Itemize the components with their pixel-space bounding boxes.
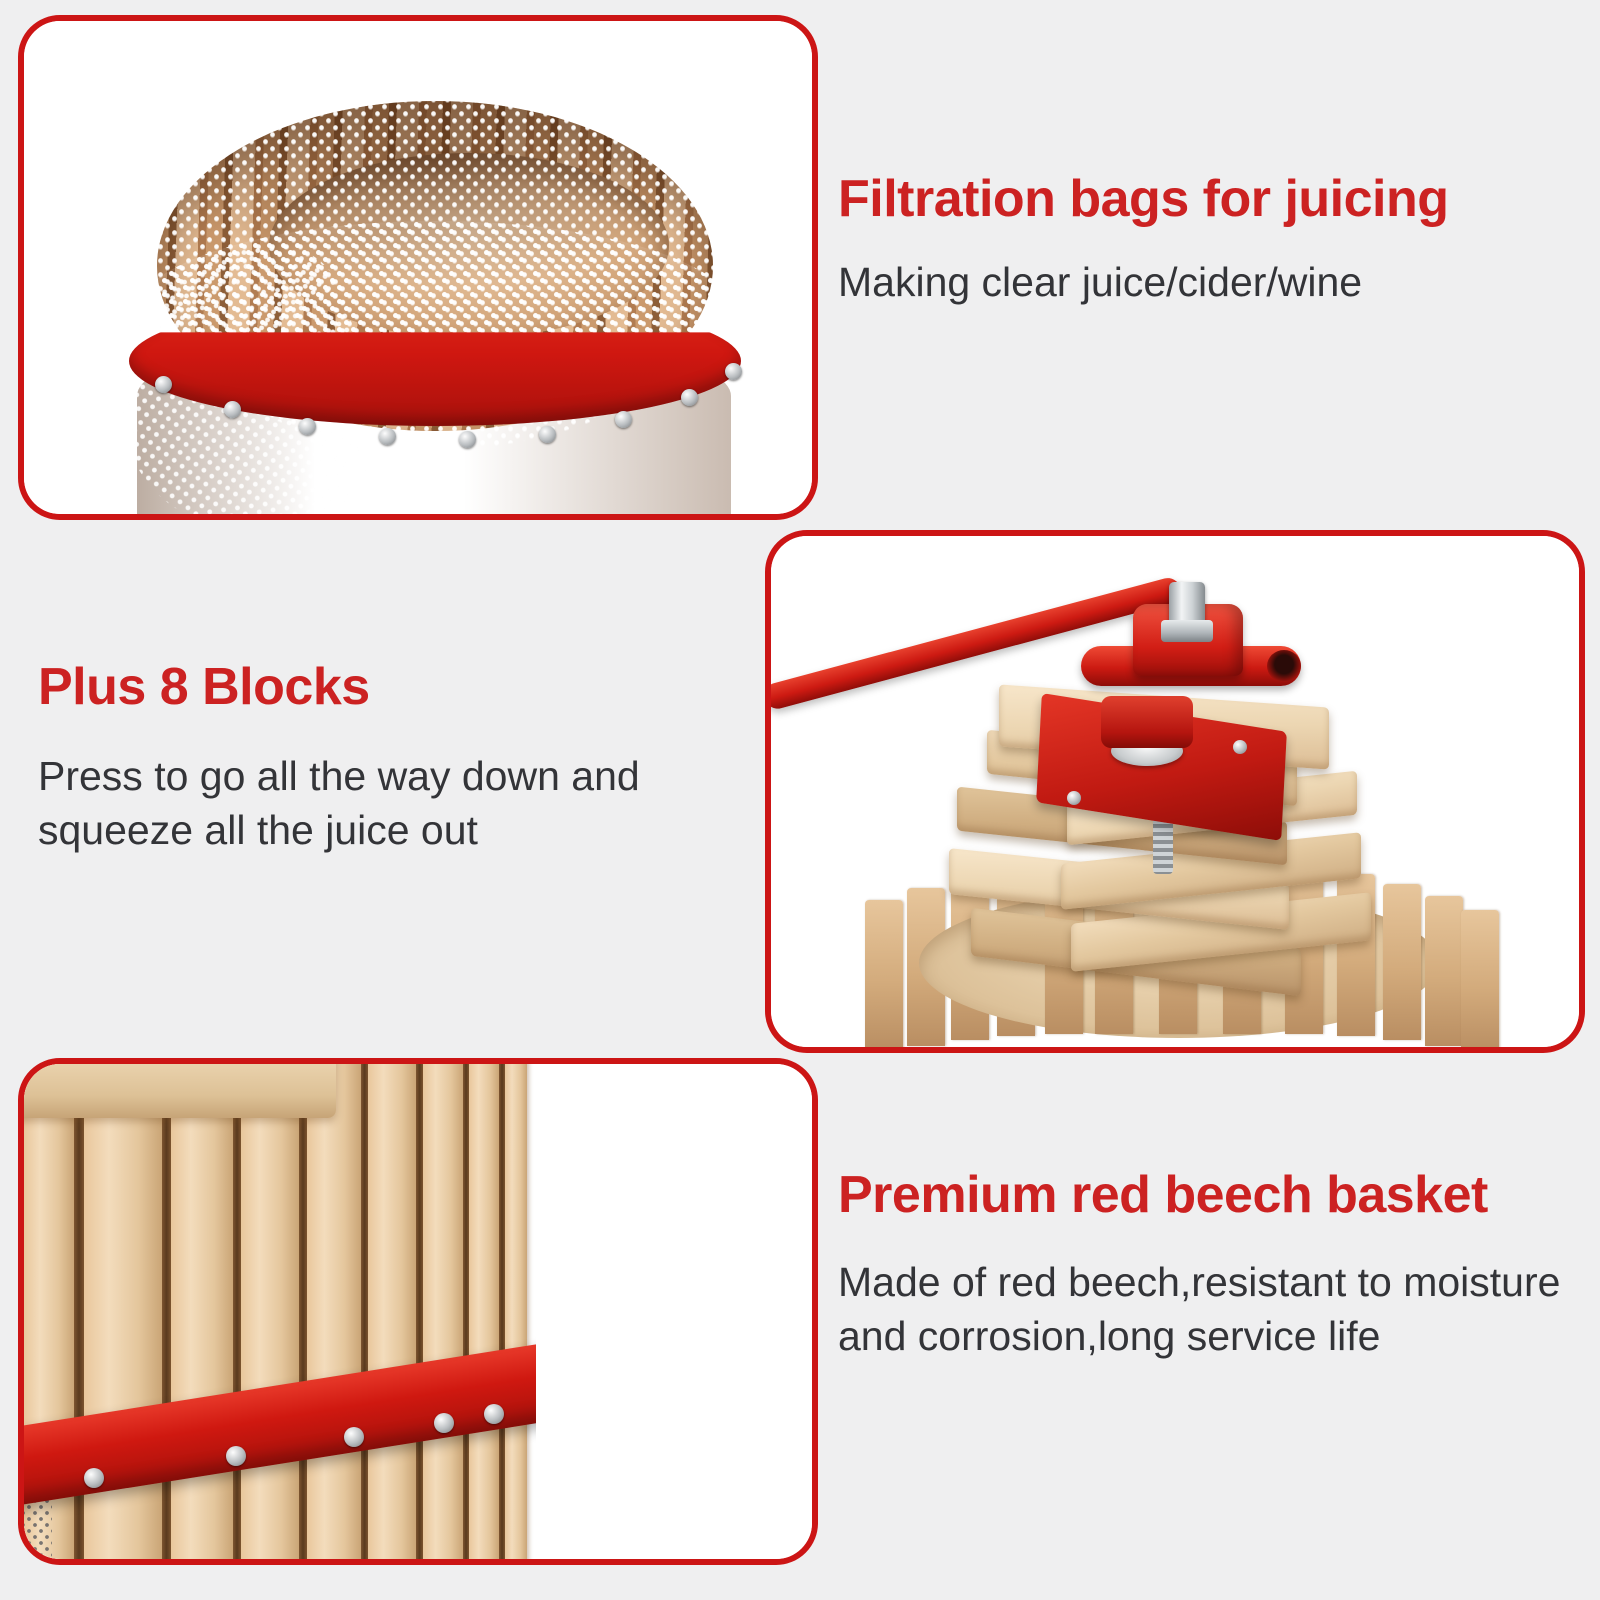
band-screw bbox=[434, 1413, 454, 1433]
feature-text-basket: Premium red beech basket Made of red bee… bbox=[838, 1168, 1568, 1363]
basket-stave bbox=[1383, 884, 1421, 1040]
photo-panel-filtration bbox=[18, 15, 818, 520]
slat-gap bbox=[361, 1064, 368, 1559]
press-blocks-photo bbox=[771, 536, 1579, 1047]
beech-slat bbox=[469, 1064, 499, 1559]
filtration-bag-photo bbox=[24, 21, 812, 514]
hoop-rivet bbox=[155, 376, 172, 393]
basket-stave bbox=[1425, 896, 1463, 1046]
feature-text-blocks: Plus 8 Blocks Press to go all the way do… bbox=[38, 660, 738, 857]
band-screw bbox=[84, 1468, 104, 1488]
feature-subtext-filtration: Making clear juice/cider/wine bbox=[838, 255, 1558, 309]
hoop-rivet bbox=[681, 389, 698, 406]
beech-slat bbox=[368, 1064, 416, 1559]
band-screw bbox=[484, 1404, 504, 1424]
beech-slat bbox=[307, 1064, 361, 1559]
hoop-rivet bbox=[299, 418, 316, 435]
hoop-rivet bbox=[539, 426, 556, 443]
slat-gap bbox=[299, 1064, 307, 1559]
hoop-rivet bbox=[459, 431, 476, 448]
hoop-rivet bbox=[224, 401, 241, 418]
basket-slat-wall bbox=[24, 1064, 536, 1559]
beech-slat bbox=[505, 1064, 527, 1559]
beech-basket-photo bbox=[24, 1064, 812, 1559]
hoop-rivet bbox=[615, 411, 632, 428]
band-screw bbox=[226, 1446, 246, 1466]
feature-subtext-basket: Made of red beech,resistant to moisture … bbox=[838, 1255, 1568, 1363]
beech-slat bbox=[171, 1064, 233, 1559]
plate-screw bbox=[1067, 791, 1081, 805]
feature-subtext-blocks: Press to go all the way down and squeeze… bbox=[38, 749, 738, 857]
slat-gap bbox=[416, 1064, 423, 1559]
beech-slat bbox=[241, 1064, 299, 1559]
hoop-rivet bbox=[725, 363, 742, 380]
plate-screw bbox=[1233, 740, 1247, 754]
photo-panel-basket bbox=[18, 1058, 818, 1565]
hub-socket-hole bbox=[1267, 650, 1301, 682]
basket-stave bbox=[1461, 910, 1499, 1047]
press-handle-hub bbox=[1071, 586, 1311, 711]
feature-headline-filtration: Filtration bags for juicing bbox=[838, 172, 1558, 227]
basket-stave bbox=[865, 900, 903, 1047]
press-basket-top-view bbox=[119, 101, 749, 514]
band-screw bbox=[344, 1427, 364, 1447]
hoop-rivet bbox=[379, 428, 396, 445]
feature-headline-basket: Premium red beech basket bbox=[838, 1168, 1568, 1223]
slat-gap bbox=[162, 1064, 171, 1559]
feature-text-filtration: Filtration bags for juicing Making clear… bbox=[838, 172, 1558, 309]
photo-panel-blocks bbox=[765, 530, 1585, 1053]
beech-slat bbox=[423, 1064, 463, 1559]
hub-bolt-nut bbox=[1161, 620, 1213, 642]
slat-gap bbox=[233, 1064, 241, 1559]
infographic-stage: Filtration bags for juicing Making clear… bbox=[0, 0, 1600, 1600]
basket-top-cap bbox=[24, 1064, 336, 1118]
feature-headline-blocks: Plus 8 Blocks bbox=[38, 660, 738, 715]
